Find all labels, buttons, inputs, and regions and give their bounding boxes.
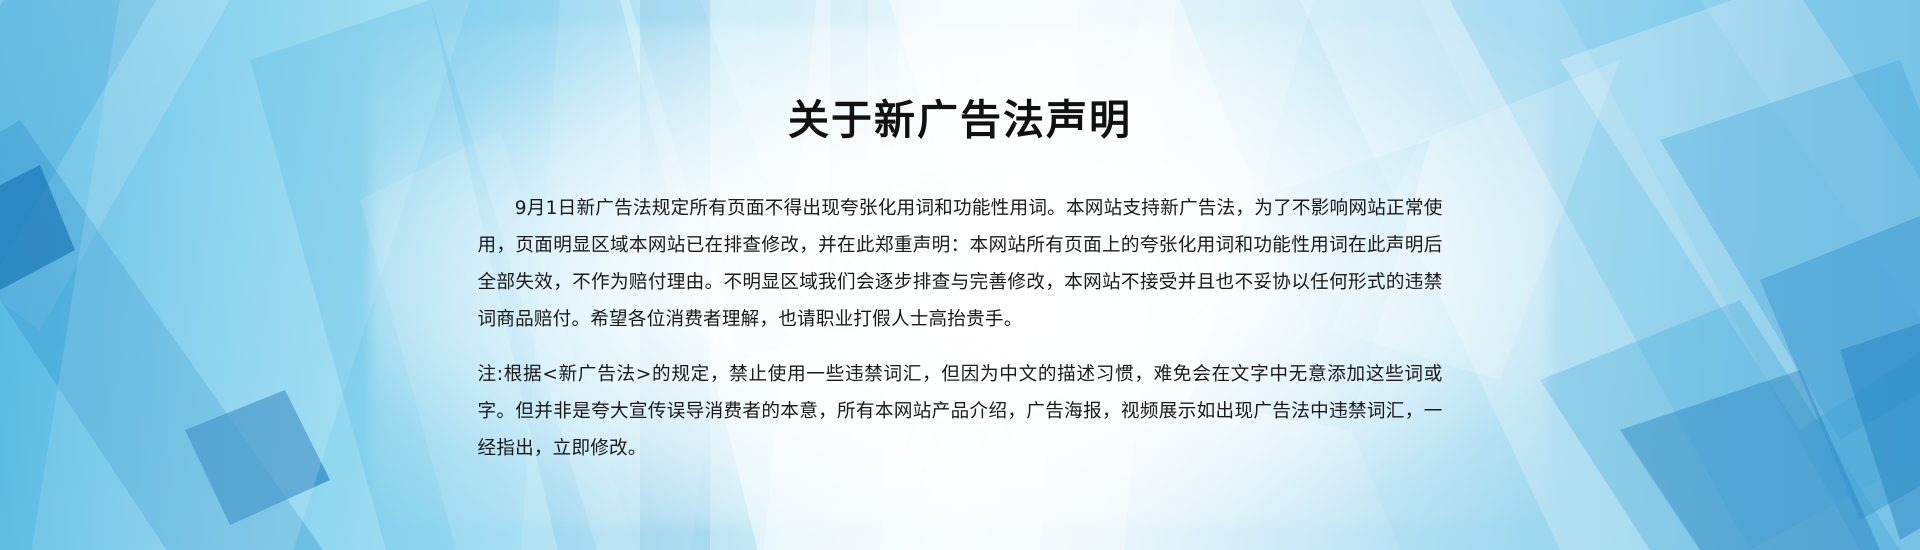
- statement-body: 9月1日新广告法规定所有页面不得出现夸张化用词和功能性用词。本网站支持新广告法，…: [478, 171, 1443, 486]
- statement-paragraph-main: 9月1日新广告法规定所有页面不得出现夸张化用词和功能性用词。本网站支持新广告法，…: [478, 190, 1443, 338]
- advertising-law-banner: 关于新广告法声明 9月1日新广告法规定所有页面不得出现夸张化用词和功能性用词。本…: [0, 0, 1920, 550]
- statement-paragraph-note: 注:根据<新广告法>的规定，禁止使用一些违禁词汇，但因为中文的描述习惯，难免会在…: [478, 356, 1443, 467]
- banner-content: 关于新广告法声明 9月1日新广告法规定所有页面不得出现夸张化用词和功能性用词。本…: [0, 0, 1920, 550]
- page-title: 关于新广告法声明: [788, 96, 1132, 145]
